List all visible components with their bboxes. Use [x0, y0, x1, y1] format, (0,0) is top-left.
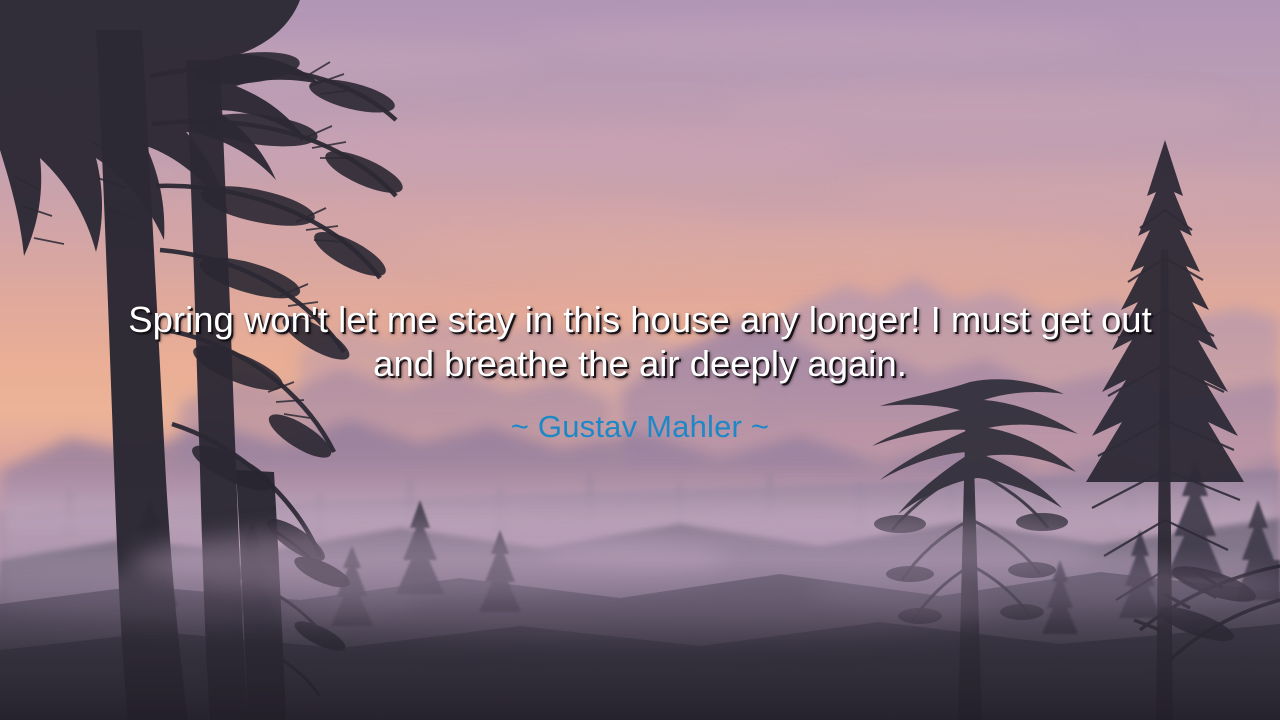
quote-image-canvas: Spring won't let me stay in this house a…: [0, 0, 1280, 720]
background-photograph: [0, 0, 1280, 720]
bottom-vignette: [0, 560, 1280, 720]
